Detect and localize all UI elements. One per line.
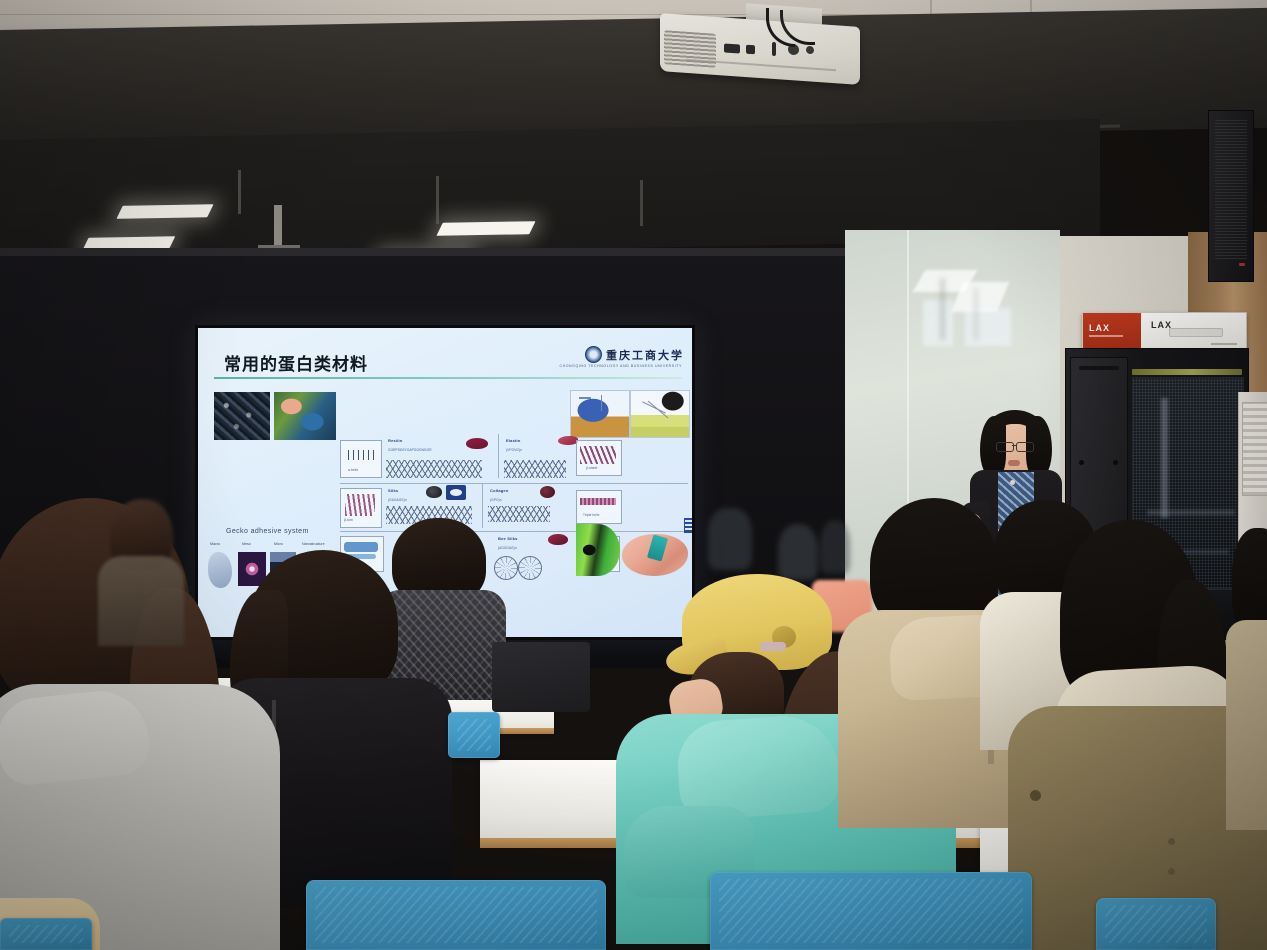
protein-formula-collagen: (GPO)n bbox=[490, 498, 502, 502]
protein-name-collagen: Collagen bbox=[490, 488, 509, 493]
protein-formula-silks: (GAGAGS)n bbox=[388, 498, 407, 502]
box-window-slot bbox=[1169, 328, 1223, 337]
projector-connector-small bbox=[806, 46, 814, 55]
classroom-photo-scene: LAX LAX 常用的蛋白类材料 重 bbox=[0, 0, 1267, 950]
tree-branch-silhouette bbox=[941, 278, 944, 340]
grid-divider-vertical-1 bbox=[498, 434, 499, 478]
student-tan-coat-stud bbox=[1168, 838, 1175, 845]
molecule-structure-elastin bbox=[504, 460, 566, 478]
presenter-glasses-left-lens-icon bbox=[996, 442, 1014, 452]
lax-equipment-box: LAX LAX bbox=[1082, 312, 1247, 352]
rack-label-strip bbox=[1132, 369, 1242, 375]
tissue-icon-elastin bbox=[558, 436, 578, 445]
student-right-edge-body bbox=[1226, 620, 1267, 830]
box-red-text-line bbox=[1089, 335, 1123, 337]
student-tan-coat-stud-2 bbox=[1168, 868, 1175, 875]
projector-pole bbox=[274, 205, 282, 247]
presenter-mouth bbox=[1008, 460, 1020, 466]
speaker-led bbox=[1239, 263, 1245, 266]
grid-divider-horizontal-1 bbox=[340, 483, 688, 484]
presenter-necklace bbox=[1010, 480, 1015, 485]
chair-front-right[interactable] bbox=[1096, 898, 1216, 950]
slide-title: 常用的蛋白类材料 bbox=[224, 350, 368, 375]
silk-cocoon-icon bbox=[446, 485, 466, 500]
bee-icon bbox=[548, 534, 568, 545]
protein-name-resilin: Resilin bbox=[388, 438, 403, 443]
tissue-icon-collagen bbox=[540, 486, 555, 498]
diagram-gecko-setae bbox=[630, 390, 690, 438]
presenter-glasses-bridge-icon bbox=[1012, 445, 1016, 446]
protein-formula-resilin: GGRPSDSYGAPGGGNGGR bbox=[388, 448, 432, 452]
chair-back-1[interactable] bbox=[448, 712, 500, 758]
lax-logo-red-side: LAX bbox=[1089, 323, 1110, 333]
student-back-left-body bbox=[98, 556, 184, 646]
protein-name-elastin: Elastin bbox=[506, 438, 521, 443]
beta-turn-icon bbox=[345, 494, 375, 516]
university-logo-mark-icon bbox=[585, 346, 602, 363]
insect-icon-resilin bbox=[466, 438, 488, 449]
rack-door-screw bbox=[1113, 460, 1118, 465]
presenter-glasses-right-lens-icon bbox=[1016, 442, 1034, 452]
window-reflection-3 bbox=[923, 300, 953, 346]
chair-front-center[interactable] bbox=[710, 872, 1032, 950]
student-back-left bbox=[96, 500, 186, 640]
speaker-grille bbox=[1215, 119, 1247, 259]
image-microarray-chip bbox=[684, 518, 692, 533]
projector-port-usb bbox=[746, 45, 755, 55]
rack-shelf bbox=[1147, 510, 1235, 515]
spider-icon-silks bbox=[426, 486, 442, 498]
university-logo-text: 重庆工商大学 bbox=[606, 347, 684, 363]
chair-far-left[interactable] bbox=[0, 918, 92, 950]
wall-mounted-speaker bbox=[1208, 110, 1254, 282]
rack-door-vent bbox=[1079, 366, 1119, 370]
rack-internal-cable bbox=[1161, 398, 1168, 518]
wall-top-trim bbox=[0, 248, 850, 256]
grid-box-triple-helix bbox=[576, 490, 622, 524]
student-hair-tie bbox=[760, 642, 786, 651]
beta-sheet-icon bbox=[580, 446, 616, 464]
light-rod-3 bbox=[640, 180, 643, 226]
protein-name-silks: Silks bbox=[388, 488, 398, 493]
student-front-left-hood bbox=[0, 686, 152, 787]
photo-mussel-colony bbox=[214, 392, 270, 440]
protein-formula-elastin: (VPGVG)n bbox=[506, 448, 522, 452]
box-text-line bbox=[1211, 343, 1237, 345]
molecule-structure-resilin bbox=[386, 460, 482, 478]
light-rod-2 bbox=[436, 176, 439, 224]
ceiling-light-1 bbox=[116, 204, 213, 219]
ceiling-light-3 bbox=[436, 221, 535, 236]
slide-title-underline bbox=[214, 377, 682, 379]
university-logo-subtext: CHONGQING TECHNOLOGY AND BUSINESS UNIVER… bbox=[559, 364, 682, 368]
student-right-edge bbox=[1232, 528, 1267, 828]
grid-caption-beta-sheet: β-sheet bbox=[586, 466, 597, 470]
photo-mussel-harvest bbox=[274, 392, 336, 440]
window-reflection-4 bbox=[965, 308, 1011, 346]
student-tan-coat-button bbox=[1030, 790, 1041, 801]
ceiling-projector-front bbox=[660, 6, 860, 84]
reflected-person-1 bbox=[708, 508, 752, 570]
grid-caption-triple-helix: Triple helix bbox=[583, 513, 600, 517]
alpha-helix-coil-icon bbox=[346, 450, 374, 460]
image-bioadhesive-green bbox=[576, 524, 620, 576]
grid-caption-beta-turn: β-turn bbox=[344, 518, 353, 522]
chair-front-left[interactable] bbox=[306, 880, 606, 950]
grid-caption-alpha-helix: α-helix bbox=[348, 468, 358, 472]
triple-helix-icon bbox=[580, 498, 616, 505]
diagram-mussel-adhesion bbox=[570, 390, 630, 438]
air-conditioner-vent bbox=[1242, 402, 1267, 496]
projector-port-hdmi bbox=[724, 43, 740, 53]
tree-branch-silhouette-2 bbox=[975, 288, 977, 340]
back-chair-dark[interactable] bbox=[492, 642, 590, 712]
university-logo: 重庆工商大学 bbox=[585, 346, 684, 363]
projector-port-vga bbox=[772, 42, 776, 56]
molecule-ring-2 bbox=[518, 556, 542, 580]
